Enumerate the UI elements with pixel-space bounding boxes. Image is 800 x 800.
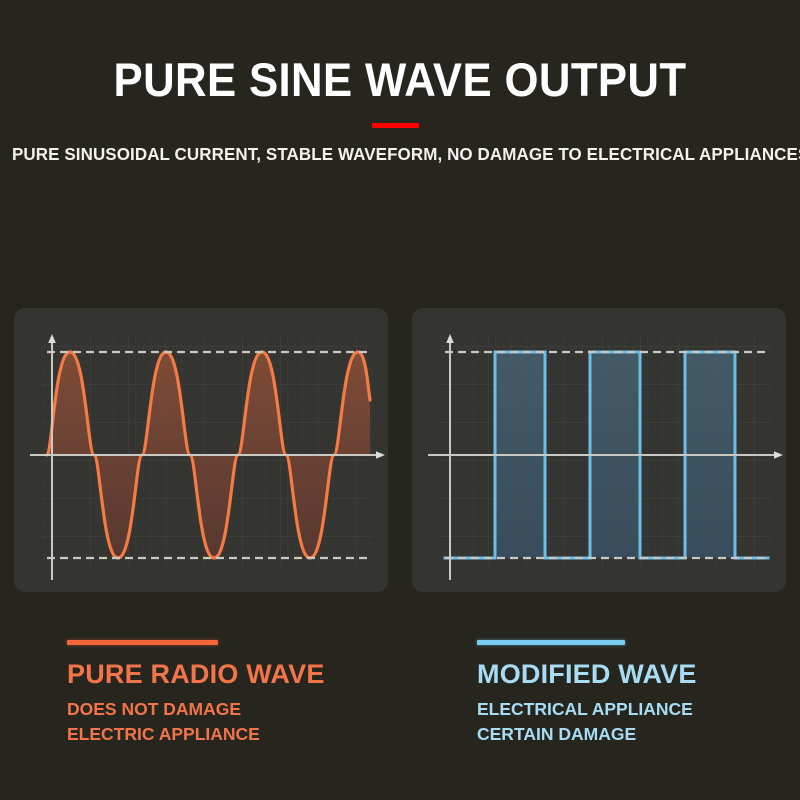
sine-wave-svg	[14, 308, 388, 592]
modified-wave-chart	[412, 308, 786, 592]
orange-accent-bar	[67, 640, 218, 645]
caption-pure-radio-wave: PURE RADIO WAVE DOES NOT DAMAGE ELECTRIC…	[67, 640, 427, 747]
caption-line-right-1: ELECTRICAL APPLIANCE	[477, 697, 800, 722]
caption-title-right: MODIFIED WAVE	[477, 659, 800, 689]
title-divider	[372, 123, 419, 128]
subtitle: PURE SINUSOIDAL CURRENT, STABLE WAVEFORM…	[12, 144, 788, 165]
page-title: PURE SINE WAVE OUTPUT	[28, 54, 772, 106]
square-wave-svg	[412, 308, 786, 592]
caption-line-left-1: DOES NOT DAMAGE	[67, 697, 427, 722]
caption-title-left: PURE RADIO WAVE	[67, 659, 427, 689]
caption-line-right-2: CERTAIN DAMAGE	[477, 722, 800, 747]
caption-modified-wave: MODIFIED WAVE ELECTRICAL APPLIANCE CERTA…	[477, 640, 800, 747]
pure-sine-wave-chart	[14, 308, 388, 592]
blue-accent-bar	[477, 640, 625, 645]
promo-banner: PURE SINE WAVE OUTPUT PURE SINUSOIDAL CU…	[0, 0, 800, 800]
header: PURE SINE WAVE OUTPUT PURE SINUSOIDAL CU…	[0, 0, 800, 200]
caption-line-left-2: ELECTRIC APPLIANCE	[67, 722, 427, 747]
